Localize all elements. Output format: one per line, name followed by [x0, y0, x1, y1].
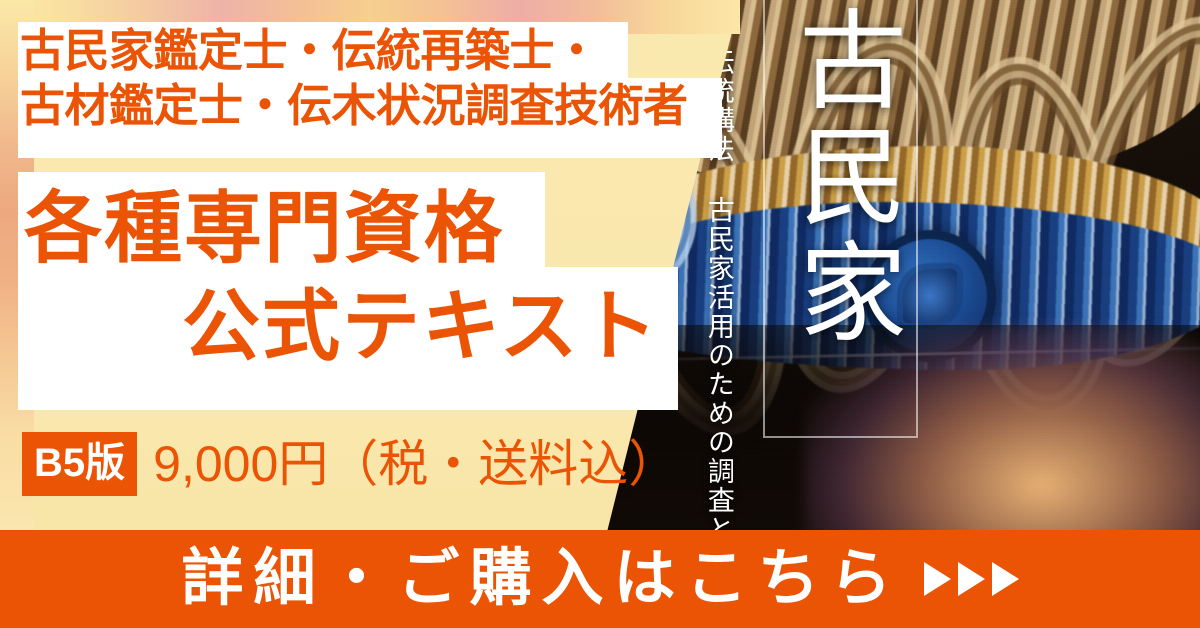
triangle-right-icon-3 — [992, 562, 1019, 596]
triangle-right-icon-1 — [924, 562, 951, 596]
headline-line-1: 各種専門資格 — [24, 184, 504, 272]
qualifications-text: 古民家鑑定士・伝統再築士・ 古材鑑定士・伝木状況調査技術者 — [20, 24, 688, 134]
format-badge: B5版 — [22, 432, 137, 496]
price-row: B5版 9,000円（税・送料込） — [22, 432, 678, 496]
qualifications-line-2: 古材鑑定士・伝木状況調査技術者 — [20, 79, 688, 134]
triangle-right-icon-2 — [958, 562, 985, 596]
promo-banner: 古民家 伝統構法 古民家活用のための調査と再生の 古民家鑑定士・伝統再築士・ 古… — [0, 0, 1200, 628]
headline-text: 各種専門資格 公式テキスト — [24, 180, 660, 375]
price-amount: 9,000円（税・送料込） — [153, 439, 678, 489]
headline-line-2: 公式テキスト — [24, 278, 660, 376]
book-cover-title: 古民家 — [772, 4, 908, 352]
cta-button-bar[interactable]: 詳細・ご購入はこちら — [0, 530, 1200, 628]
qualifications-line-1: 古民家鑑定士・伝統再築士・ — [20, 24, 688, 79]
cta-arrows — [924, 562, 1019, 596]
cta-label: 詳細・ご購入はこちら — [181, 548, 901, 610]
